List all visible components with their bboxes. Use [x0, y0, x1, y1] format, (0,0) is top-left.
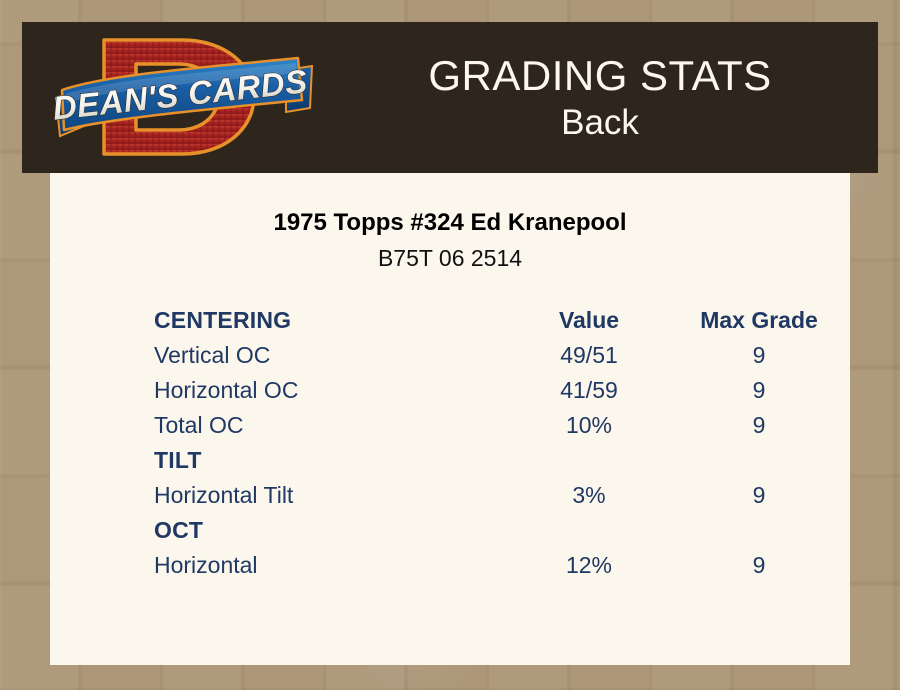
section-label: TILT — [154, 443, 504, 478]
table-row: Horizontal Tilt 3% 9 — [154, 478, 844, 513]
content-panel: 1975 Topps #324 Ed Kranepool B75T 06 251… — [50, 173, 850, 665]
stat-label: Vertical OC — [154, 338, 504, 373]
table-row: Horizontal OC 41/59 9 — [154, 373, 844, 408]
page-title: GRADING STATS — [428, 51, 771, 101]
column-header-max-grade: Max Grade — [674, 303, 844, 338]
table-row: Total OC 10% 9 — [154, 408, 844, 443]
stat-label: Total OC — [154, 408, 504, 443]
grading-stats-page: DEAN'S CARDS GRADING STATS Back 1975 Top… — [0, 0, 900, 690]
section-label: CENTERING — [154, 303, 504, 338]
stat-max-grade: 9 — [674, 548, 844, 583]
stat-label: Horizontal Tilt — [154, 478, 504, 513]
card-title: 1975 Topps #324 Ed Kranepool — [50, 209, 850, 237]
page-subtitle: Back — [561, 101, 639, 145]
table-row: Vertical OC 49/51 9 — [154, 338, 844, 373]
stat-value: 41/59 — [504, 373, 674, 408]
stat-value: 3% — [504, 478, 674, 513]
section-value — [504, 443, 674, 478]
table-row: TILT — [154, 443, 844, 478]
card-serial-number: B75T 06 2514 — [50, 245, 850, 272]
stat-max-grade: 9 — [674, 373, 844, 408]
stat-value: 10% — [504, 408, 674, 443]
stat-value: 49/51 — [504, 338, 674, 373]
section-max-grade — [674, 443, 844, 478]
stat-max-grade: 9 — [674, 478, 844, 513]
stat-label: Horizontal — [154, 548, 504, 583]
table-row: Horizontal 12% 9 — [154, 548, 844, 583]
header-bar: DEAN'S CARDS GRADING STATS Back — [22, 22, 878, 173]
header-title-group: GRADING STATS Back — [322, 22, 878, 173]
grading-stats-table: CENTERING Value Max Grade Vertical OC 49… — [154, 303, 844, 583]
stat-max-grade: 9 — [674, 338, 844, 373]
section-label: OCT — [154, 513, 504, 548]
stat-value: 12% — [504, 548, 674, 583]
table-row: OCT — [154, 513, 844, 548]
section-max-grade — [674, 513, 844, 548]
column-header-value: Value — [504, 303, 674, 338]
stat-max-grade: 9 — [674, 408, 844, 443]
deans-cards-logo: DEAN'S CARDS — [50, 30, 318, 165]
grading-stats-body: CENTERING Value Max Grade Vertical OC 49… — [154, 303, 844, 583]
table-row: CENTERING Value Max Grade — [154, 303, 844, 338]
stat-label: Horizontal OC — [154, 373, 504, 408]
section-value — [504, 513, 674, 548]
